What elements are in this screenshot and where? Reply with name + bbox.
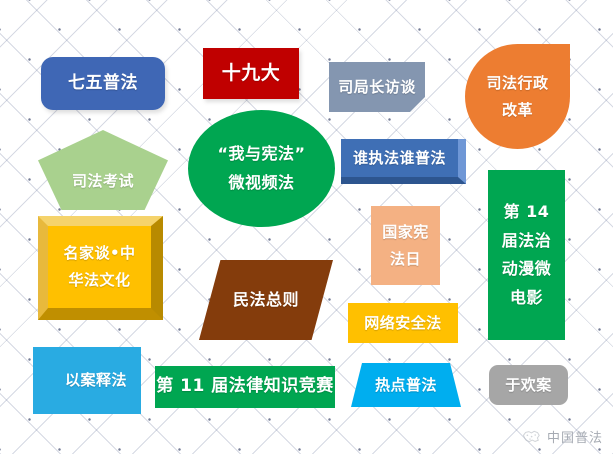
china-map-icon: [521, 429, 541, 445]
node-label: 电影: [510, 288, 543, 308]
node-label: 华法文化: [68, 271, 130, 290]
smartart-canvas: 七五普法 十九大 司局长访谈 司法行政 改革 司法考试 “我与宪法” 微视频法 …: [0, 0, 613, 454]
node-sifa-xingzheng-gaige[interactable]: 司法行政 改革: [465, 44, 570, 149]
node-minfa-zongze[interactable]: 民法总则: [199, 260, 333, 340]
node-di11-jie[interactable]: 第 11 届法律知识竞赛: [155, 366, 335, 408]
node-label: 法日: [390, 250, 421, 269]
node-yuhuan-an[interactable]: 于欢案: [489, 365, 568, 405]
node-label: 司法考试: [72, 172, 134, 191]
node-wangluo-anquanfa[interactable]: 网络安全法: [348, 303, 458, 343]
node-label: 改革: [502, 101, 533, 120]
watermark: 中国普法: [521, 427, 603, 446]
node-label: 届法治: [502, 231, 552, 251]
node-shui-zhifa-shui-pufa[interactable]: 谁执法谁普法: [341, 139, 466, 184]
node-label: 动漫微: [502, 259, 552, 279]
node-sijuzhang-fangtan[interactable]: 司局长访谈: [329, 62, 425, 112]
node-label: 微视频法: [228, 173, 294, 193]
node-label: 国家宪: [382, 223, 429, 242]
node-label: 以案释法: [65, 371, 127, 390]
node-label: 谁执法谁普法: [353, 149, 446, 168]
node-label: “我与宪法”: [217, 144, 305, 164]
node-wo-yu-xianfa[interactable]: “我与宪法” 微视频法: [188, 110, 335, 227]
node-mingjiatan[interactable]: 名家谈•中 华法文化: [38, 216, 163, 320]
node-label: 网络安全法: [364, 314, 442, 333]
node-label: 十九大: [222, 62, 281, 86]
node-shijiuda[interactable]: 十九大: [203, 48, 299, 99]
node-label: 民法总则: [233, 290, 299, 310]
node-label: 第 11 届法律知识竞赛: [156, 376, 334, 397]
node-di14-jie[interactable]: 第 14 届法治 动漫微 电影: [488, 170, 565, 340]
node-label: 热点普法: [375, 376, 437, 395]
node-label: 七五普法: [68, 73, 138, 94]
watermark-text: 中国普法: [547, 427, 603, 446]
node-redian-pufa[interactable]: 热点普法: [351, 363, 461, 407]
node-yian-shifa[interactable]: 以案释法: [33, 347, 141, 414]
node-qiwu-pufa[interactable]: 七五普法: [41, 57, 165, 110]
node-label: 于欢案: [505, 376, 552, 395]
node-label: 司法行政: [486, 74, 548, 93]
node-label: 名家谈•中: [63, 244, 135, 263]
node-label: 第 14: [504, 202, 550, 222]
node-guojia-xianfari[interactable]: 国家宪 法日: [371, 206, 440, 285]
node-label: 司局长访谈: [338, 78, 416, 97]
